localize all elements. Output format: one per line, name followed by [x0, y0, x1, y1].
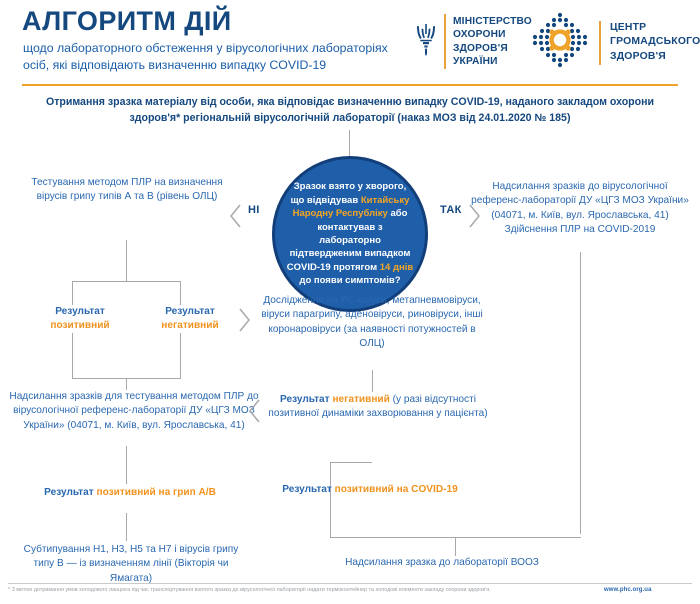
node-send-to-who-lab: Надсилання зразка до лабораторії ВООЗ	[322, 556, 562, 570]
cph-text-line-1: ЦЕНТР	[610, 21, 700, 35]
result-value-positive: позитивний	[50, 320, 109, 331]
decision-part-3: до появи симптомів?	[299, 275, 400, 286]
decision-highlight-days: 14 днів	[380, 262, 413, 273]
cph-text-line-3: ЗДОРОВ'Я	[610, 50, 700, 64]
connector-right-long-down	[580, 274, 581, 534]
moz-text-line-4: УКРАЇНИ	[453, 55, 532, 68]
moz-logo-text: МІНІСТЕРСТВО ОХОРОНИ ЗДОРОВ'Я УКРАЇНИ	[453, 14, 532, 69]
connector-research-to-midneg	[372, 370, 373, 392]
branch-label-yes: ТАК	[440, 204, 462, 216]
midneg-highlight: негативний	[332, 394, 389, 405]
moz-text-line-2: ОХОРОНИ	[453, 28, 532, 41]
page-subtitle: щодо лабораторного обстеження у вірусоло…	[23, 40, 423, 74]
cph-logo: ЦЕНТР ГРОМАДСЬКОГО ЗДОРОВ'Я	[530, 10, 700, 75]
connector-to-positive	[72, 281, 73, 305]
ukraine-trident-icon	[415, 14, 437, 66]
node-result-positive-flu: Результат позитивний	[20, 305, 140, 334]
cph-text-line-2: ГРОМАДСЬКОГО	[610, 35, 700, 49]
pos-covid-highlight: позитивний на COVID-19	[335, 484, 458, 495]
result-label-positive: Результат	[55, 306, 105, 317]
pos-flu-highlight: позитивний на грип А/В	[97, 487, 216, 498]
connector-midneg-bracket-top	[330, 462, 372, 463]
moz-text-line-3: ЗДОРОВ'Я	[453, 42, 532, 55]
chevron-left-icon	[228, 203, 242, 229]
public-health-center-icon	[530, 10, 590, 75]
connector-test-down	[126, 240, 127, 282]
chevron-negative-to-research-icon	[238, 307, 252, 333]
pos-covid-label: Результат	[282, 484, 334, 495]
node-negative-no-dynamics: Результат негативний (у разі відсутності…	[262, 393, 494, 422]
banner-line-1: Отримання зразка матеріалу від особи, як…	[36, 95, 664, 111]
cph-divider	[599, 21, 601, 65]
result-label-negative: Результат	[165, 306, 215, 317]
node-result-negative-flu: Результат негативний	[128, 305, 252, 334]
decision-node: Зразок взято у хворого, що відвідував Ки…	[272, 156, 428, 312]
footer-divider	[8, 583, 692, 584]
infographic-page: АЛГОРИТМ ДІЙ щодо лабораторного обстежен…	[0, 0, 700, 604]
node-positive-flu-result: Результат позитивний на грип А/В	[30, 486, 230, 500]
node-positive-covid-result: Результат позитивний на COVID-19	[270, 483, 470, 497]
intake-banner: Отримання зразка матеріалу від особи, як…	[36, 95, 664, 127]
moz-logo: МІНІСТЕРСТВО ОХОРОНИ ЗДОРОВ'Я УКРАЇНИ	[415, 14, 532, 69]
page-title: АЛГОРИТМ ДІЙ	[22, 8, 232, 35]
connector-negative-down	[180, 333, 181, 379]
connector-covid-left-vertical	[330, 462, 331, 538]
decision-text: Зразок взято у хворого, що відвідував Ки…	[275, 180, 425, 288]
moz-divider	[444, 14, 446, 69]
chevron-midneg-to-send-icon	[247, 398, 261, 424]
subtitle-line-2: осіб, які відповідають визначенню випадк…	[23, 57, 423, 74]
connector-right-down	[580, 252, 581, 274]
moz-text-line-1: МІНІСТЕРСТВО	[453, 15, 532, 28]
subtitle-line-1: щодо лабораторного обстеження у вірусоло…	[23, 40, 423, 57]
branch-label-no: НІ	[248, 204, 260, 216]
cph-logo-text: ЦЕНТР ГРОМАДСЬКОГО ЗДОРОВ'Я	[610, 21, 700, 63]
node-subtyping: Субтипування Н1, Н3, Н5 та Н7 і вірусів …	[12, 543, 250, 586]
connector-to-negative	[180, 281, 181, 305]
header-divider	[22, 84, 678, 86]
banner-line-2: здоров'я* регіональній вірусологічній ла…	[36, 111, 664, 127]
pos-flu-label: Результат	[44, 487, 96, 498]
footnote-text: * З метою дотримання умов холодового лан…	[8, 586, 568, 594]
node-other-virus-research: Дослідження на РС-віруси, метапневмовіру…	[258, 294, 486, 351]
connector-test-split	[72, 281, 181, 282]
node-send-covid-reference-lab: Надсилання зразків до вірусологічної реф…	[466, 180, 694, 237]
connector-flupos-to-subtype	[126, 513, 127, 541]
connector-merge-to-who	[455, 537, 456, 556]
midneg-prefix: Результат	[280, 394, 332, 405]
header: АЛГОРИТМ ДІЙ щодо лабораторного обстежен…	[0, 0, 700, 92]
connector-merge-to-send	[126, 378, 127, 390]
connector-send-to-flupos	[126, 446, 127, 484]
connector-positive-down	[72, 333, 73, 379]
connector-banner-to-decision	[349, 130, 350, 156]
footer-url[interactable]: www.phc.org.ua	[604, 587, 652, 593]
node-flu-pcr-test: Тестування методом ПЛР на визначення вір…	[22, 176, 232, 205]
node-send-samples-reference-lab: Надсилання зразків для тестування методо…	[6, 390, 262, 433]
result-value-negative: негативний	[161, 320, 218, 331]
